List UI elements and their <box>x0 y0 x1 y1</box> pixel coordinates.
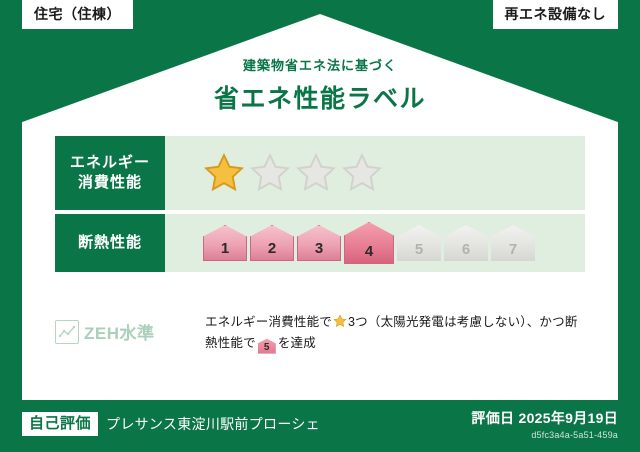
star-icon-filled <box>203 152 245 194</box>
zeh-label: ZEH水準 <box>84 319 155 344</box>
insulation-level-badges: 1234567 <box>203 222 535 264</box>
zeh-standard-block: ZEH水準 エネルギー消費性能で3つ（太陽光発電は考慮しない）、かつ断熱性能で5… <box>55 312 585 354</box>
footer-meta: 評価日 2025年9月19日 d5fc3a4a-5a51-459a <box>471 408 618 440</box>
star-icon <box>333 314 347 328</box>
energy-star-rating <box>165 136 585 210</box>
zeh-desc-part3: を達成 <box>278 336 316 350</box>
label-footer: 自己評価 プレサンス東淀川駅前プローシェ 評価日 2025年9月19日 d5fc… <box>22 404 618 444</box>
insulation-label-line1: 断熱性能 <box>78 233 142 253</box>
star-icon-empty <box>295 152 337 194</box>
energy-label-line1: エネルギー <box>70 153 150 173</box>
zeh-chart-icon <box>55 320 79 344</box>
label-id: d5fc3a4a-5a51-459a <box>471 430 618 440</box>
label-headline: 建築物省エネ法に基づく 省エネ性能ラベル <box>0 55 640 115</box>
building-type-tag: 住宅（住棟） <box>22 0 133 29</box>
star-icon-empty <box>249 152 291 194</box>
energy-label-line2: 消費性能 <box>78 173 142 193</box>
insulation-level-badge-5: 5 <box>397 225 441 261</box>
star-icon-empty <box>341 152 383 194</box>
insulation-performance-row: 断熱性能 1234567 <box>55 214 585 272</box>
headline-title: 省エネ性能ラベル <box>0 79 640 115</box>
insulation-level-badge-6: 6 <box>444 225 488 261</box>
zeh-mark: ZEH水準 <box>55 312 205 344</box>
zeh-house-level-badge: 5 <box>258 339 276 354</box>
insulation-level-badge-7: 7 <box>491 225 535 261</box>
insulation-level-badge-4: 4 <box>344 222 394 264</box>
insulation-level-area: 1234567 <box>165 214 585 272</box>
renewable-equipment-tag: 再エネ設備なし <box>493 0 619 29</box>
insulation-performance-label: 断熱性能 <box>55 214 165 272</box>
energy-consumption-row: エネルギー 消費性能 <box>55 136 585 210</box>
insulation-level-badge-1: 1 <box>203 225 247 261</box>
property-name: プレサンス東淀川駅前プローシェ <box>106 414 320 434</box>
self-evaluation-badge: 自己評価 <box>22 412 98 436</box>
insulation-level-badge-3: 3 <box>297 225 341 261</box>
energy-consumption-label: エネルギー 消費性能 <box>55 136 165 210</box>
insulation-level-badge-2: 2 <box>250 225 294 261</box>
zeh-desc-part1: エネルギー消費性能で <box>205 315 332 329</box>
zeh-description: エネルギー消費性能で3つ（太陽光発電は考慮しない）、かつ断熱性能で5を達成 <box>205 312 585 354</box>
energy-performance-label: 住宅（住棟） 再エネ設備なし 建築物省エネ法に基づく 省エネ性能ラベル エネルギ… <box>0 0 640 452</box>
evaluation-date: 評価日 2025年9月19日 <box>471 408 618 428</box>
headline-subtitle: 建築物省エネ法に基づく <box>0 55 640 74</box>
